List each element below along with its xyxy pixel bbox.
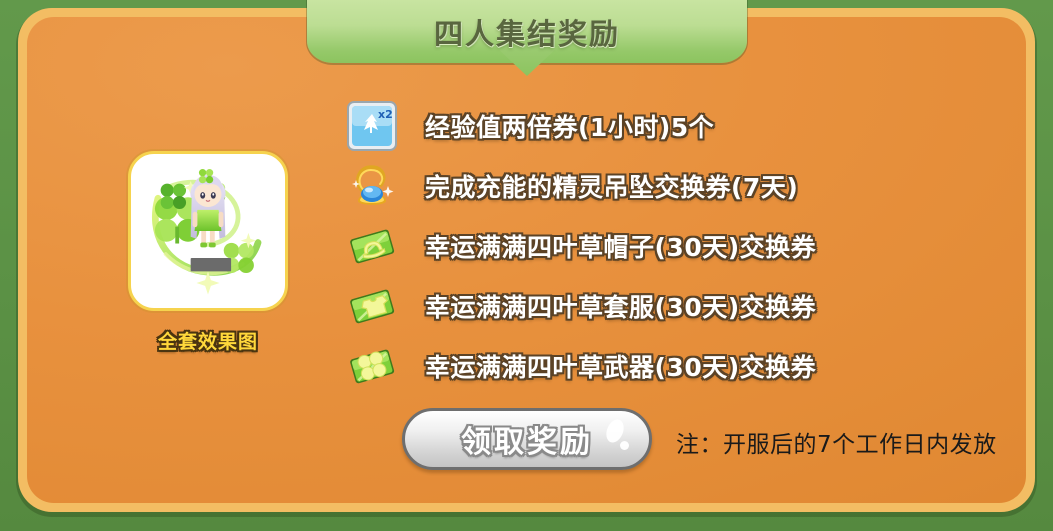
distribution-note: 注：开服后的7个工作日内发放 bbox=[676, 425, 997, 459]
reward-label: 幸运满满四叶草套服(30天)交换券 bbox=[425, 288, 816, 324]
reward-row: x2 经验值两倍券(1小时)5个 bbox=[345, 96, 965, 156]
reward-label: 经验值两倍券(1小时)5个 bbox=[425, 108, 714, 144]
claim-reward-button[interactable]: 领取奖励 bbox=[402, 408, 652, 470]
preview-block: 全套效果图 bbox=[128, 151, 288, 354]
reward-list: x2 经验值两倍券(1小时)5个 bbox=[345, 96, 965, 396]
full-set-preview-image bbox=[131, 154, 285, 308]
page-title: 四人集结奖励 bbox=[307, 11, 747, 53]
reward-row: 幸运满满四叶草套服(30天)交换券 bbox=[345, 276, 965, 336]
preview-card[interactable] bbox=[128, 151, 288, 311]
reward-row: 幸运满满四叶草帽子(30天)交换券 bbox=[345, 216, 965, 276]
exp-2x-coupon-icon: x2 bbox=[345, 99, 399, 153]
spirit-pendant-icon bbox=[345, 159, 399, 213]
reward-label: 完成充能的精灵吊坠交换券(7天) bbox=[425, 168, 798, 204]
svg-text:x2: x2 bbox=[378, 108, 393, 121]
title-banner: 四人集结奖励 bbox=[307, 0, 747, 63]
reward-row: 完成充能的精灵吊坠交换券(7天) bbox=[345, 156, 965, 216]
reward-row: 幸运满满四叶草武器(30天)交换券 bbox=[345, 336, 965, 396]
clover-outfit-coupon-icon bbox=[345, 279, 399, 333]
reward-popup-screen: 四人集结奖励 bbox=[0, 0, 1053, 531]
clover-hat-coupon-icon bbox=[345, 219, 399, 273]
reward-label: 幸运满满四叶草帽子(30天)交换券 bbox=[425, 228, 816, 264]
button-gloss-small bbox=[620, 441, 629, 450]
reward-label: 幸运满满四叶草武器(30天)交换券 bbox=[425, 348, 816, 384]
clover-weapon-coupon-icon bbox=[345, 339, 399, 393]
preview-label: 全套效果图 bbox=[128, 327, 288, 354]
